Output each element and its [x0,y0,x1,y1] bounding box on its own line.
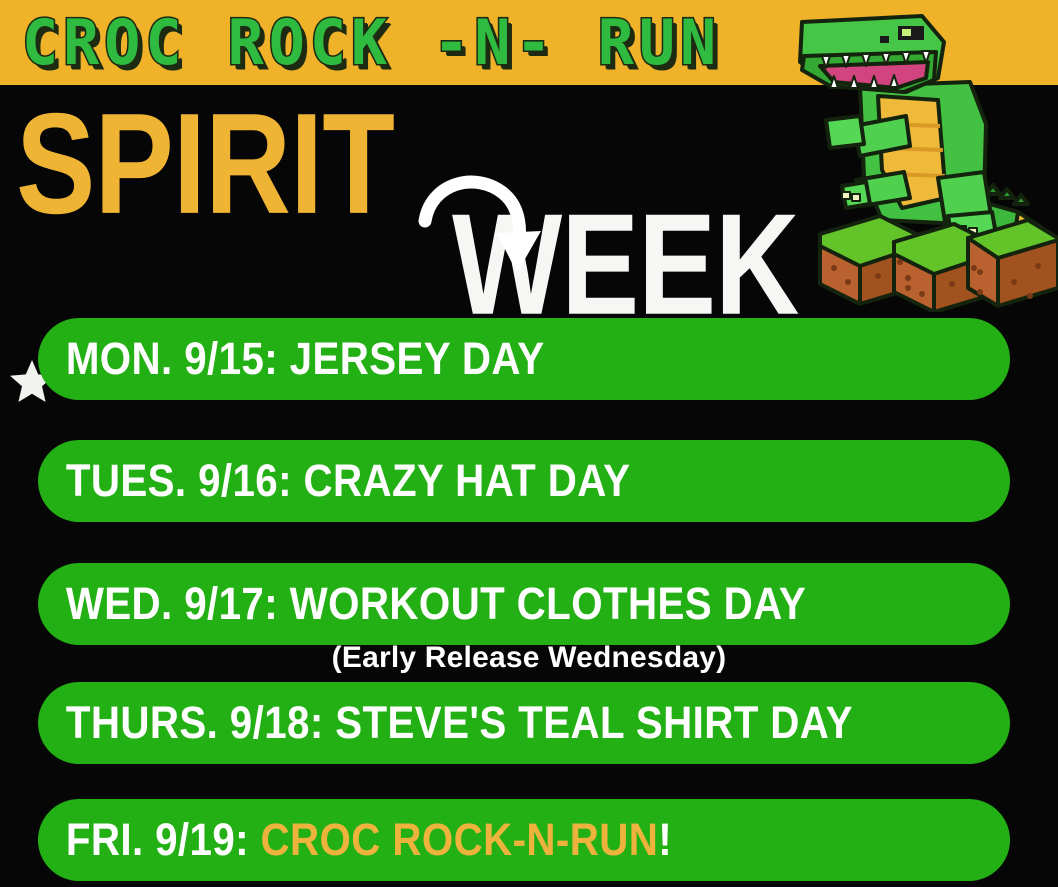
schedule-row-wednesday-label: WED. 9/17: WORKOUT CLOTHES DAY [38,580,806,628]
schedule-row-monday: MON. 9/15: JERSEY DAY [38,318,1010,400]
spirit-week-flyer: CROC ROCK -N- RUN SPIRIT WEEK [0,0,1058,887]
schedule-row-friday-label: FRI. 9/19: CROC ROCK-N-RUN! [38,816,672,864]
wednesday-date-prefix: WED. 9/17: [66,578,290,629]
schedule-row-monday-label: MON. 9/15: JERSEY DAY [38,335,545,383]
friday-activity-accent: CROC ROCK-N-RUN [261,814,659,865]
thursday-activity: STEVE'S TEAL SHIRT DAY [335,697,853,748]
schedule-row-tuesday-label: TUES. 9/16: CRAZY HAT DAY [38,457,630,505]
schedule-row-thursday-label: THURS. 9/18: STEVE'S TEAL SHIRT DAY [38,699,853,747]
schedule-row-wednesday: WED. 9/17: WORKOUT CLOTHES DAY [38,563,1010,645]
schedule-row-thursday: THURS. 9/18: STEVE'S TEAL SHIRT DAY [38,682,1010,764]
friday-activity-suffix: ! [658,814,672,865]
friday-date-prefix: FRI. 9/19: [66,814,261,865]
headline-word-week: WEEK [452,193,799,337]
monday-date-prefix: MON. 9/15: [66,333,290,384]
thursday-date-prefix: THURS. 9/18: [66,697,335,748]
monday-activity: JERSEY DAY [290,333,545,384]
event-banner-title: CROC ROCK -N- RUN [22,8,721,79]
headline-word-spirit: SPIRIT [16,93,394,236]
early-release-note: (Early Release Wednesday) [0,641,1058,675]
tuesday-activity: CRAZY HAT DAY [304,455,631,506]
schedule-row-tuesday: TUES. 9/16: CRAZY HAT DAY [38,440,1010,522]
wednesday-activity: WORKOUT CLOTHES DAY [290,578,807,629]
schedule-row-friday: FRI. 9/19: CROC ROCK-N-RUN! [38,799,1010,881]
crocodile-artwork [786,0,1058,312]
tuesday-date-prefix: TUES. 9/16: [66,455,304,506]
